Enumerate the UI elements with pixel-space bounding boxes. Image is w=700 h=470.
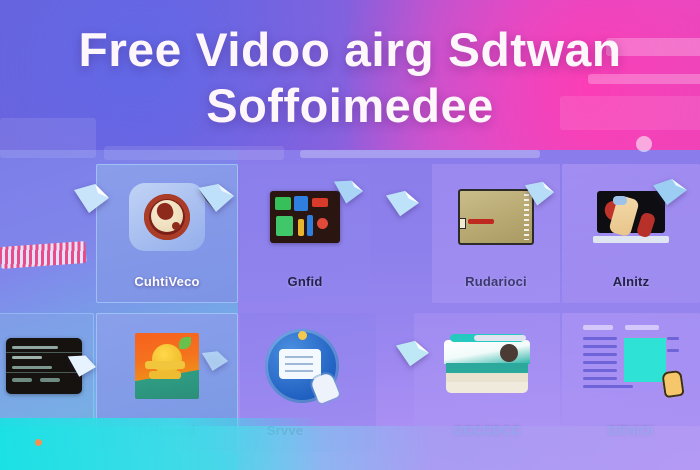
app-tile-label: CuhtiVeco [96,274,238,289]
teal-card-icon [442,329,532,403]
app-tile[interactable]: Gnfid [240,164,370,303]
laptop-hand-icon [588,180,674,254]
tile-row-1: CuhtiVeco Gnfid [0,164,700,305]
app-tile-label: Gnfid [240,274,370,289]
blue-badge-icon [259,329,345,403]
ghost-dot [636,136,652,152]
app-tile[interactable]: AInitz [562,164,700,303]
page-title: Free Vidoo airg Sdtwan Soffoimedee [0,26,700,129]
paint-palette-icon [124,180,210,254]
ghost-panel-5 [104,146,284,160]
page-title-line-1: Free Vidoo airg Sdtwan [0,26,700,73]
notebook-icon [453,180,539,254]
ghost-panel-6 [300,150,540,158]
colorful-screen-icon [262,180,348,254]
app-tile-label: AInitz [562,274,700,289]
footer-band-cyan [0,418,322,470]
app-tile[interactable]: CuhtiVeco [96,164,238,303]
orange-poster-icon [124,329,210,403]
app-tile[interactable]: Rudarioci [432,164,560,303]
footer-dot [35,439,42,446]
document-cursor-icon [581,323,681,397]
page-title-line-2: Soffoimedee [0,82,700,129]
app-tile-label: Rudarioci [432,274,560,289]
hero-image: Free Vidoo airg Sdtwan Soffoimedee Cuhti… [0,0,700,470]
app-tile-grid: CuhtiVeco Gnfid [0,164,700,454]
code-monitor-icon [1,329,87,403]
